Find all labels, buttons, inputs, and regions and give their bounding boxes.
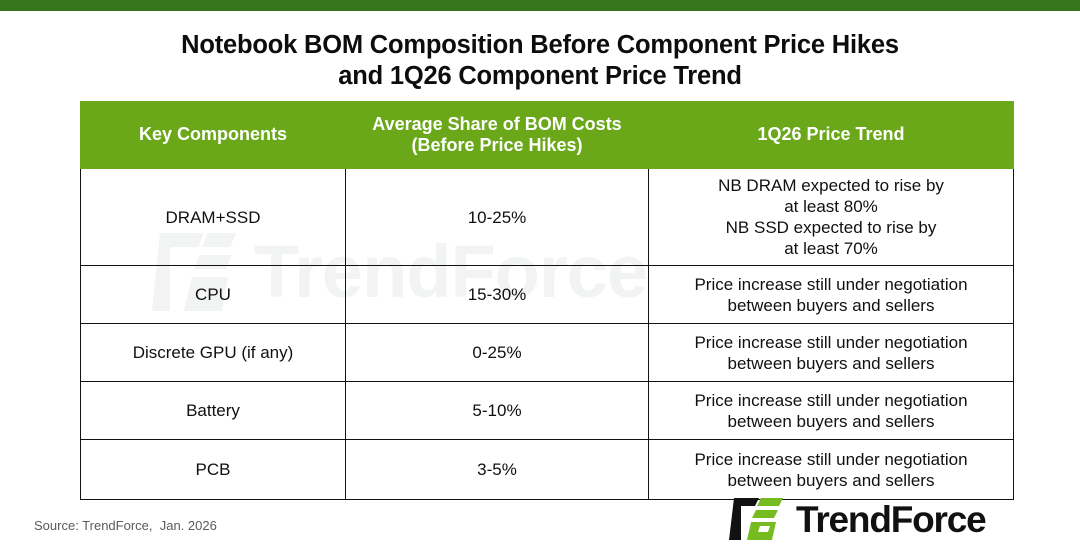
cell-trend: Price increase still under negotiation b…: [649, 266, 1014, 324]
page-title: Notebook BOM Composition Before Componen…: [0, 30, 1080, 92]
cell-trend: Price increase still under negotiation b…: [649, 440, 1014, 500]
table-body: DRAM+SSD 10-25% NB DRAM expected to rise…: [81, 169, 1014, 500]
cell-component: Battery: [81, 382, 346, 440]
table-row: PCB 3-5% Price increase still under nego…: [81, 440, 1014, 500]
table-row: DRAM+SSD 10-25% NB DRAM expected to rise…: [81, 169, 1014, 266]
cell-trend: Price increase still under negotiation b…: [649, 324, 1014, 382]
cell-share: 10-25%: [346, 169, 649, 266]
table-header: Key Components Average Share of BOM Cost…: [81, 102, 1014, 169]
source-note: Source: TrendForce, Jan. 2026: [34, 518, 217, 533]
bom-composition-table: Key Components Average Share of BOM Cost…: [80, 101, 1014, 500]
trendforce-logo-text: TrendForce: [796, 501, 986, 538]
table-row: Battery 5-10% Price increase still under…: [81, 382, 1014, 440]
table-header-row: Key Components Average Share of BOM Cost…: [81, 102, 1014, 169]
cell-component: Discrete GPU (if any): [81, 324, 346, 382]
cell-share: 0-25%: [346, 324, 649, 382]
top-accent-bar: [0, 0, 1080, 11]
cell-component: PCB: [81, 440, 346, 500]
table-row: Discrete GPU (if any) 0-25% Price increa…: [81, 324, 1014, 382]
column-header-average-share: Average Share of BOM Costs (Before Price…: [346, 102, 649, 169]
column-header-key-components: Key Components: [81, 102, 346, 169]
column-header-price-trend: 1Q26 Price Trend: [649, 102, 1014, 169]
trendforce-logo-mark-icon: [726, 497, 786, 541]
trendforce-logo: TrendForce: [726, 496, 986, 542]
slide-canvas: Notebook BOM Composition Before Componen…: [0, 0, 1080, 560]
cell-share: 5-10%: [346, 382, 649, 440]
cell-share: 15-30%: [346, 266, 649, 324]
cell-share: 3-5%: [346, 440, 649, 500]
cell-trend: NB DRAM expected to rise by at least 80%…: [649, 169, 1014, 266]
cell-component: CPU: [81, 266, 346, 324]
cell-component: DRAM+SSD: [81, 169, 346, 266]
table-row: CPU 15-30% Price increase still under ne…: [81, 266, 1014, 324]
cell-trend: Price increase still under negotiation b…: [649, 382, 1014, 440]
